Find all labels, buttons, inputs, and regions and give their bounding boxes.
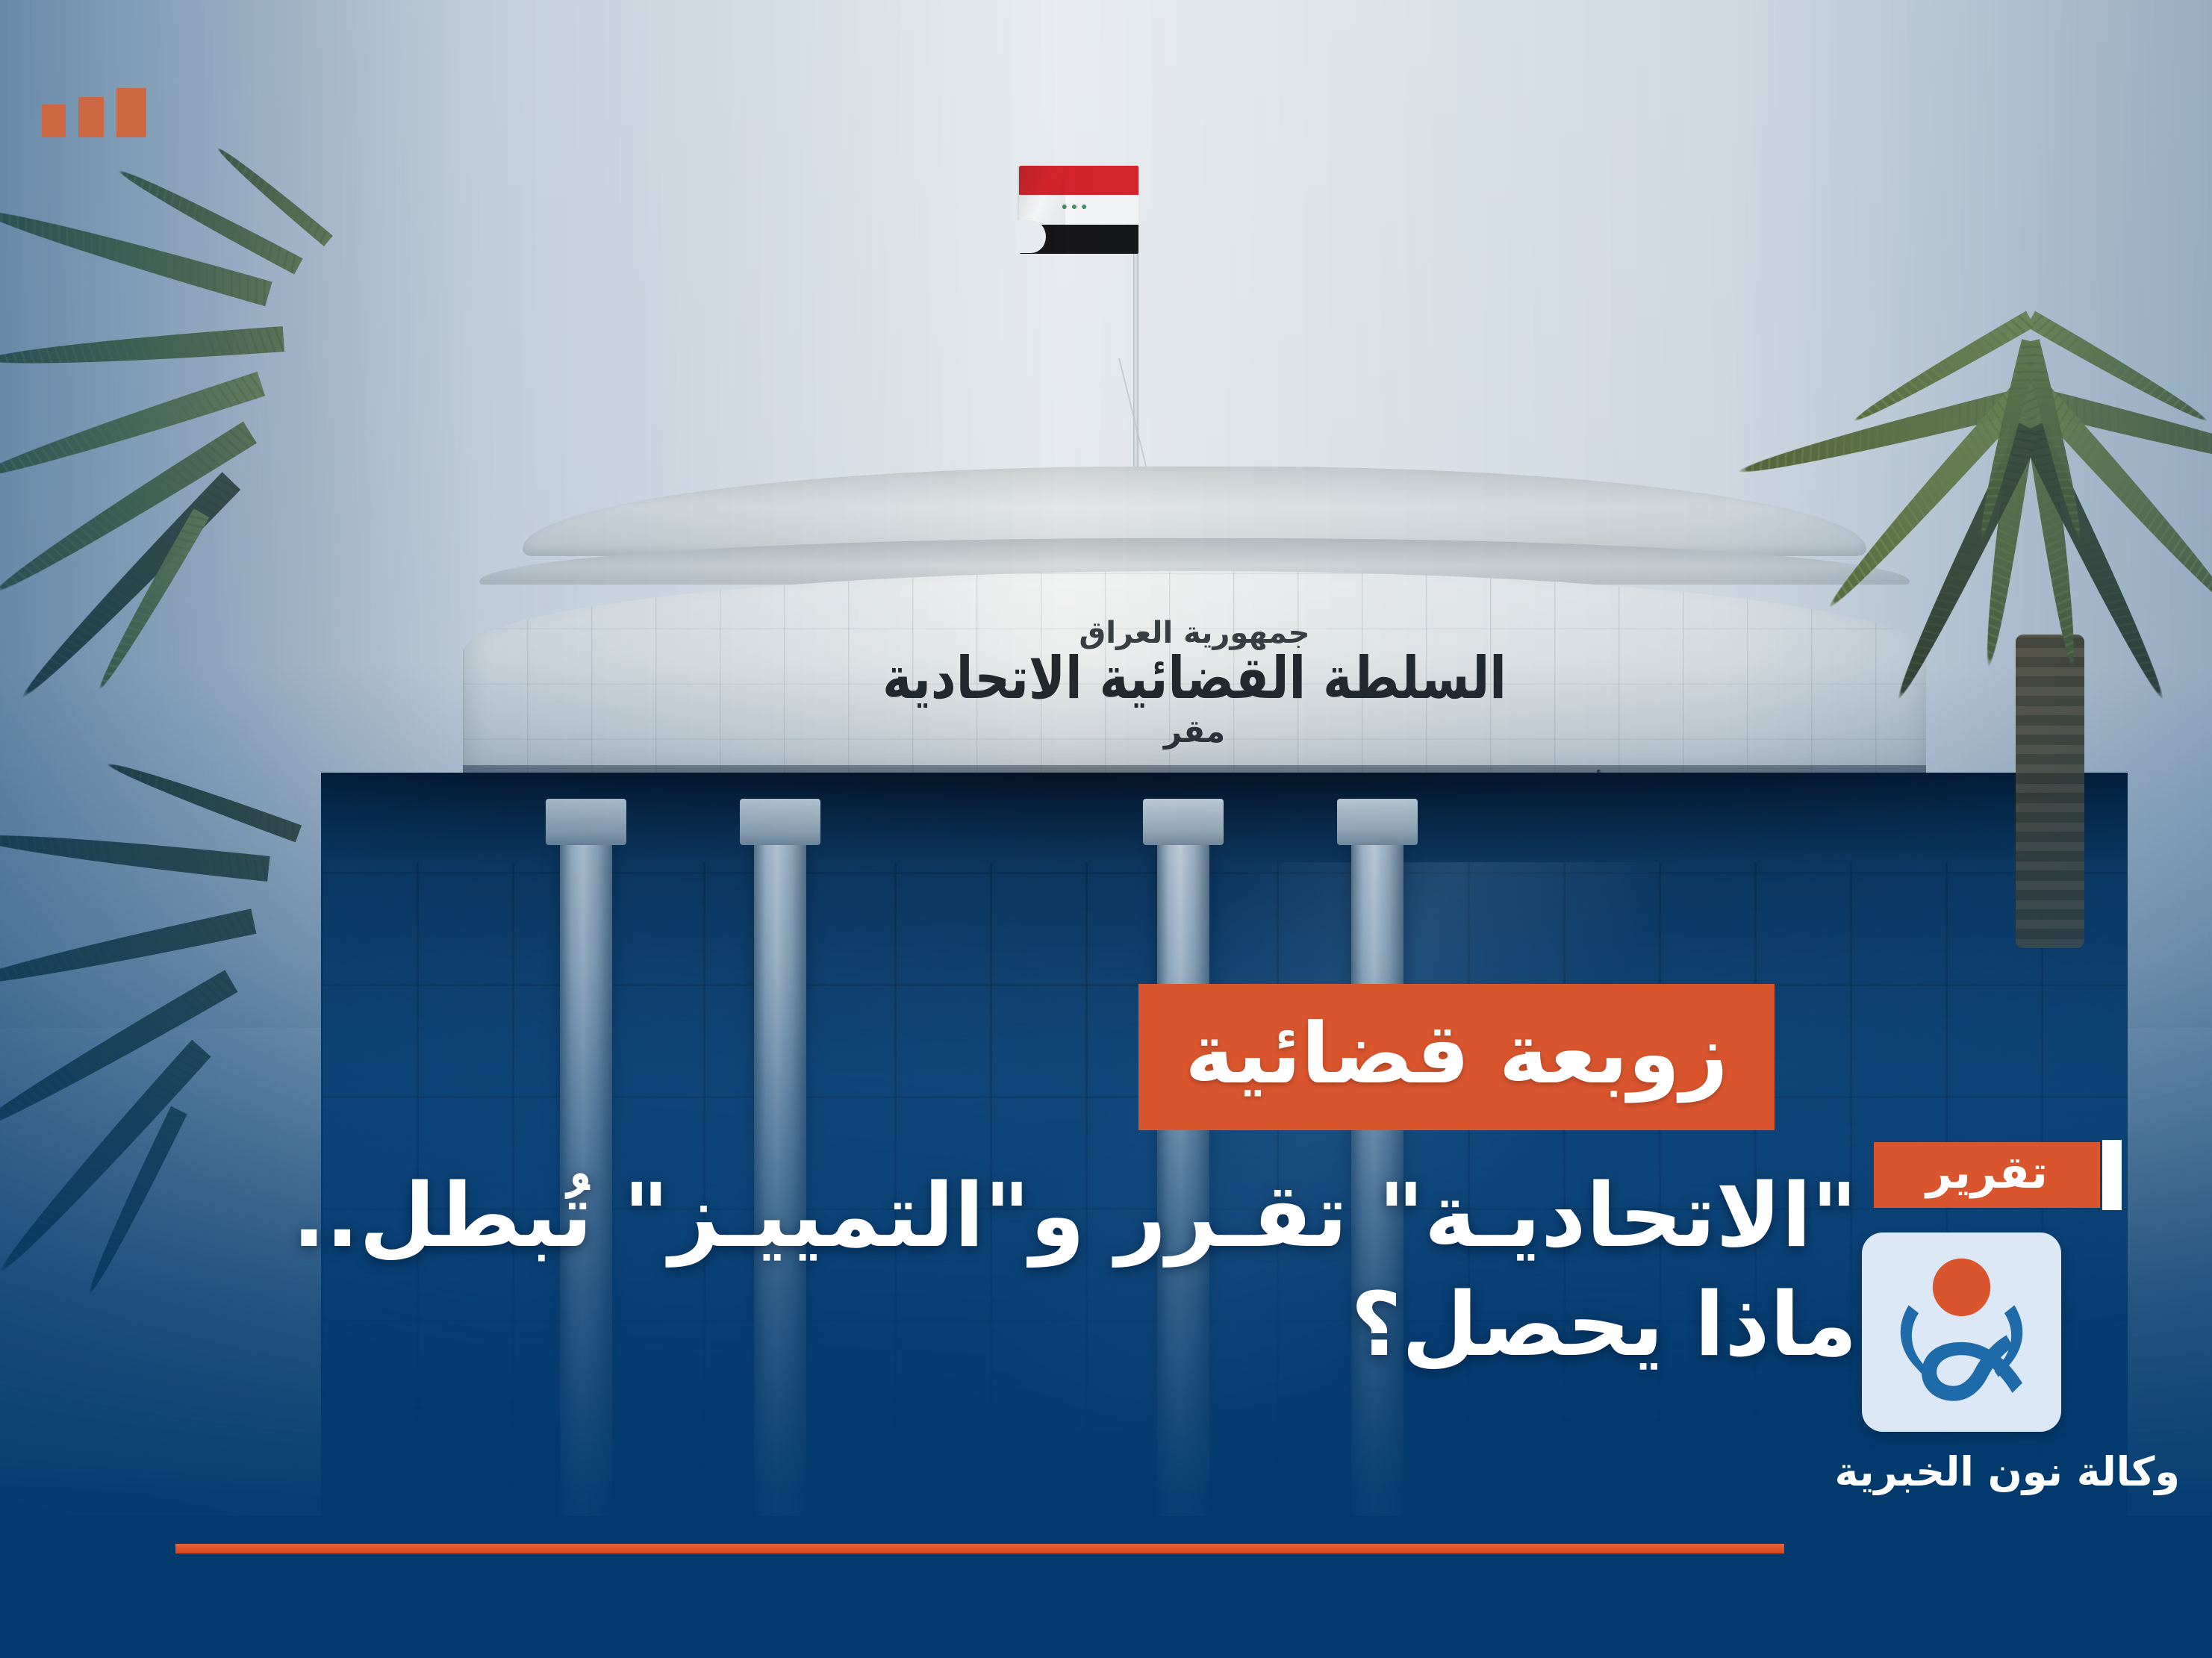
report-tag-label: تقرير [1926, 1150, 2048, 1195]
agency-logo-icon [1862, 1232, 2061, 1432]
three-bars-mark-icon [42, 88, 146, 137]
report-tag-badge: تقرير [1874, 1142, 2100, 1208]
orange-divider-rule [175, 1544, 1784, 1553]
brand-block: تقرير وكالة نون الخبرية [1851, 1142, 2180, 1495]
kicker-label: زوبعة قضائية [1185, 1012, 1728, 1096]
agency-name: وكالة نون الخبرية [1851, 1448, 2180, 1495]
headline-line-1: "الاتحاديـة" تقـرر و"التمييـز" تُبطل.. [275, 1161, 1857, 1270]
headline: "الاتحاديـة" تقـرر و"التمييـز" تُبطل.. م… [275, 1161, 1857, 1380]
kicker-badge: زوبعة قضائية [1138, 984, 1775, 1130]
headline-line-2: ماذا يحصل؟ [275, 1270, 1857, 1379]
news-graphic-card: جمهورية العراق السلطة القضائية الاتحادية… [0, 0, 2212, 1658]
bottom-solid-band [0, 1516, 2212, 1658]
